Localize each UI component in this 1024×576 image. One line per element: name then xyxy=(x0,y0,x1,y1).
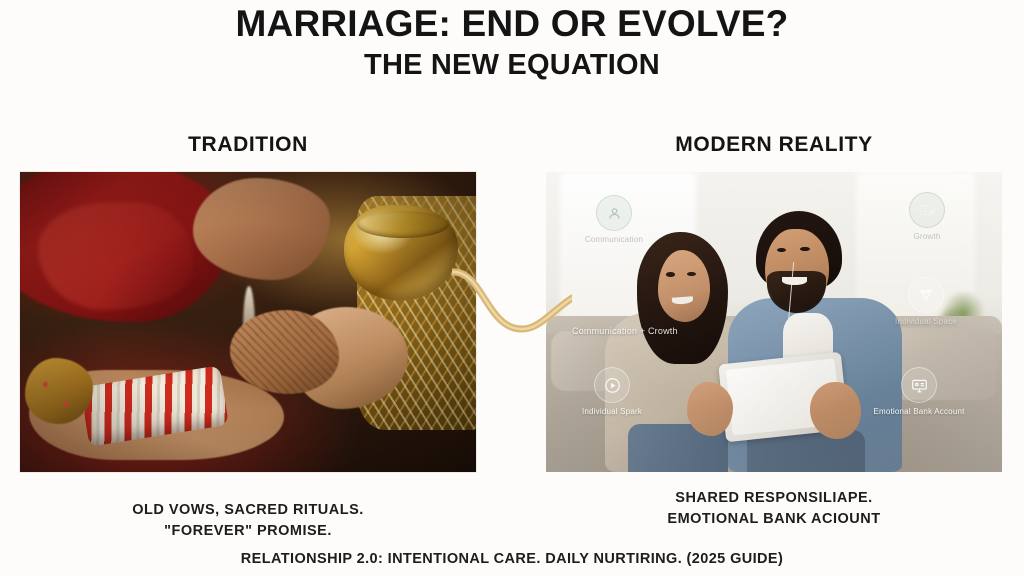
caption-tradition-line2: "FOREVER" PROMISE. xyxy=(20,521,476,542)
shield-icon xyxy=(908,277,944,313)
badge-growth-label: Growth xyxy=(914,232,941,241)
photo-vignette xyxy=(20,172,476,472)
column-header-tradition: TRADITION xyxy=(20,133,476,157)
title-block: MARRIAGE: END OR EVOLVE? THE NEW EQUATIO… xyxy=(0,4,1024,82)
badge-growth: Growth xyxy=(888,192,966,242)
badge-space-right-label: Individual Space xyxy=(895,317,957,326)
overlay-caption-communication-growth: Communication + Crowth xyxy=(572,326,678,336)
column-header-modern-reality: MODERN REALITY xyxy=(546,133,1002,157)
caption-modern-line1: SHARED RESPONSILIAPE. xyxy=(546,488,1002,509)
badge-bank-label: Emotional Bank Account xyxy=(873,407,964,416)
play-circle-icon xyxy=(594,367,630,403)
caption-tradition-line1: OLD VOWS, SACRED RITUALS. xyxy=(20,500,476,521)
person-circle-icon xyxy=(596,195,632,231)
tradition-photo xyxy=(20,172,476,472)
caption-tradition: OLD VOWS, SACRED RITUALS. "FOREVER" PROM… xyxy=(20,500,476,542)
badge-communication: Communication xyxy=(572,195,656,245)
caption-modern-line2: EMOTIONAL BANK ACIOUNT xyxy=(546,509,1002,530)
badge-spark-left-label: Individual Spark xyxy=(582,407,642,416)
monitor-icon xyxy=(901,367,937,403)
page-title: MARRIAGE: END OR EVOLVE? xyxy=(0,4,1024,44)
card-icon xyxy=(909,192,945,228)
badge-emotional-bank-account: Emotional Bank Account xyxy=(852,367,986,417)
footer-note: RELATIONSHIP 2.0: INTENTIONAL CARE. DAIL… xyxy=(0,551,1024,567)
badge-communication-label: Communication xyxy=(585,235,643,244)
badge-individual-spark-left: Individual Spark xyxy=(566,367,658,417)
badge-individual-space-right: Individual Space xyxy=(880,277,972,327)
page-subtitle: THE NEW EQUATION xyxy=(0,48,1024,82)
caption-modern-reality: SHARED RESPONSILIAPE. EMOTIONAL BANK ACI… xyxy=(546,488,1002,530)
